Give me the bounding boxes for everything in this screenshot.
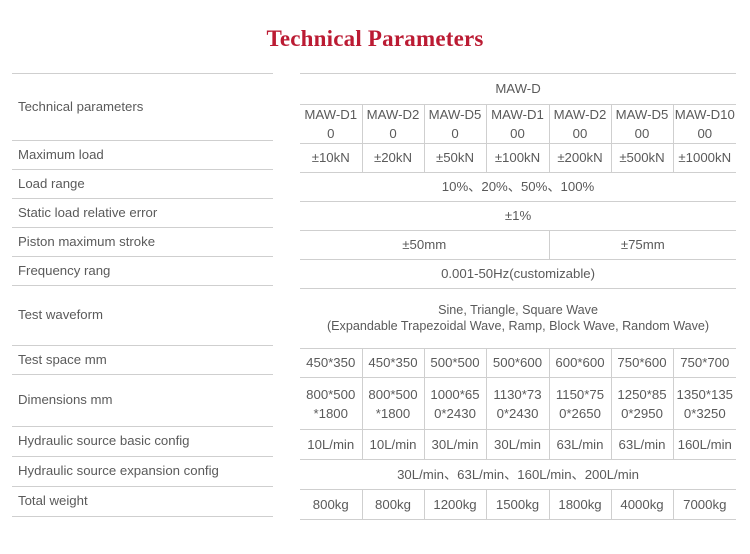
- dimensions-d20-line-2: *1800: [364, 404, 423, 423]
- model-header-row: MAW-D10 MAW-D20 MAW-D50 MAW-D100 MAW-D20…: [300, 105, 736, 144]
- data-row-load-range: 10%、20%、50%、100%: [300, 173, 736, 202]
- cell-hydraulic-basic-d100: 30L/min: [486, 430, 549, 460]
- cell-total-weight-d20: 800kg: [362, 490, 424, 520]
- dimensions-d1000-line-2: 0*3250: [675, 404, 736, 423]
- row-label-total-weight: Total weight: [12, 487, 273, 517]
- cell-maximum-load-d100: ±100kN: [486, 144, 549, 173]
- data-row-piston-maximum-stroke: ±50mm ±75mm: [300, 231, 736, 260]
- cell-test-space-d10: 450*350: [300, 349, 362, 378]
- label-row: Static load relative error: [12, 199, 273, 228]
- parameter-header-label: Technical parameters: [12, 74, 273, 141]
- dimensions-d200-line-1: 1150*75: [551, 385, 610, 404]
- label-row: Hydraulic source basic config: [12, 427, 273, 457]
- label-row: Hydraulic source expansion config: [12, 457, 273, 487]
- cell-dimensions-d100: 1130*73 0*2430: [486, 378, 549, 430]
- cell-dimensions-d20: 800*500 *1800: [362, 378, 424, 430]
- row-label-test-space-mm: Test space mm: [12, 346, 273, 375]
- cell-test-space-d100: 500*600: [486, 349, 549, 378]
- dimensions-d100-line-1: 1130*73: [488, 385, 548, 404]
- row-label-hydraulic-source-expansion-config: Hydraulic source expansion config: [12, 457, 273, 487]
- row-label-test-waveform: Test waveform: [12, 286, 273, 346]
- row-label-load-range: Load range: [12, 170, 273, 199]
- label-row: Frequency rang: [12, 257, 273, 286]
- cell-total-weight-d50: 1200kg: [424, 490, 486, 520]
- label-row: Test waveform: [12, 286, 273, 346]
- cell-test-space-d50: 500*500: [424, 349, 486, 378]
- cell-maximum-load-d20: ±20kN: [362, 144, 424, 173]
- parameter-label-body: Technical parameters Maximum load Load r…: [12, 74, 273, 517]
- data-row-dimensions: 800*500 *1800 800*500 *1800 1000*65 0*24…: [300, 378, 736, 430]
- data-row-hydraulic-expansion: 30L/min、63L/min、160L/min、200L/min: [300, 460, 736, 490]
- data-row-test-waveform: Sine, Triangle, Square Wave (Expandable …: [300, 289, 736, 349]
- dimensions-d100-line-2: 0*2430: [488, 404, 548, 423]
- cell-dimensions-d10: 800*500 *1800: [300, 378, 362, 430]
- label-row: Dimensions mm: [12, 375, 273, 427]
- dimensions-d20-line-1: 800*500: [364, 385, 423, 404]
- row-label-static-load-relative-error: Static load relative error: [12, 199, 273, 228]
- cell-total-weight-d10: 800kg: [300, 490, 362, 520]
- label-row: Load range: [12, 170, 273, 199]
- cell-hydraulic-expansion-all: 30L/min、63L/min、160L/min、200L/min: [300, 460, 736, 490]
- model-header-maw-d20: MAW-D20: [362, 105, 424, 144]
- dimensions-d1000-line-1: 1350*135: [675, 385, 736, 404]
- cell-hydraulic-basic-d500: 63L/min: [611, 430, 673, 460]
- cell-piston-stroke-50mm: ±50mm: [300, 231, 549, 260]
- row-label-piston-maximum-stroke: Piston maximum stroke: [12, 228, 273, 257]
- cell-dimensions-d1000: 1350*135 0*3250: [673, 378, 736, 430]
- cell-total-weight-d500: 4000kg: [611, 490, 673, 520]
- cell-test-space-d1000: 750*700: [673, 349, 736, 378]
- model-data-body: MAW-D MAW-D10 MAW-D20 MAW-D50 MAW-D100 M…: [300, 74, 736, 520]
- dimensions-d500-line-1: 1250*85: [613, 385, 672, 404]
- spec-sheet-page: Technical Parameters Technical parameter…: [0, 0, 750, 554]
- label-row: Total weight: [12, 487, 273, 517]
- cell-total-weight-d200: 1800kg: [549, 490, 611, 520]
- model-header-maw-d500: MAW-D500: [611, 105, 673, 144]
- label-row: Piston maximum stroke: [12, 228, 273, 257]
- model-header-maw-d50: MAW-D50: [424, 105, 486, 144]
- parameter-label-column: Technical parameters Maximum load Load r…: [12, 73, 273, 517]
- cell-test-space-d200: 600*600: [549, 349, 611, 378]
- cell-maximum-load-d1000: ±1000kN: [673, 144, 736, 173]
- dimensions-d50-line-2: 0*2430: [426, 404, 485, 423]
- cell-hydraulic-basic-d50: 30L/min: [424, 430, 486, 460]
- cell-test-waveform-all: Sine, Triangle, Square Wave (Expandable …: [300, 289, 736, 349]
- series-name-cell: MAW-D: [300, 74, 736, 105]
- dimensions-d10-line-2: *1800: [301, 404, 361, 423]
- data-row-maximum-load: ±10kN ±20kN ±50kN ±100kN ±200kN ±500kN ±…: [300, 144, 736, 173]
- model-header-maw-d100: MAW-D100: [486, 105, 549, 144]
- series-header-row: MAW-D: [300, 74, 736, 105]
- dimensions-d200-line-2: 0*2650: [551, 404, 610, 423]
- data-row-frequency-rang: 0.001-50Hz(customizable): [300, 260, 736, 289]
- row-label-frequency-rang: Frequency rang: [12, 257, 273, 286]
- cell-frequency-rang-all: 0.001-50Hz(customizable): [300, 260, 736, 289]
- cell-maximum-load-d10: ±10kN: [300, 144, 362, 173]
- specification-table: Technical parameters Maximum load Load r…: [12, 73, 736, 520]
- cell-static-load-relative-error-all: ±1%: [300, 202, 736, 231]
- cell-dimensions-d200: 1150*75 0*2650: [549, 378, 611, 430]
- cell-dimensions-d50: 1000*65 0*2430: [424, 378, 486, 430]
- cell-piston-stroke-75mm: ±75mm: [549, 231, 736, 260]
- cell-total-weight-d100: 1500kg: [486, 490, 549, 520]
- cell-total-weight-d1000: 7000kg: [673, 490, 736, 520]
- test-waveform-line-2: (Expandable Trapezoidal Wave, Ramp, Bloc…: [301, 319, 735, 335]
- cell-load-range-all: 10%、20%、50%、100%: [300, 173, 736, 202]
- data-row-static-load-relative-error: ±1%: [300, 202, 736, 231]
- test-waveform-line-1: Sine, Triangle, Square Wave: [301, 303, 735, 319]
- cell-hydraulic-basic-d200: 63L/min: [549, 430, 611, 460]
- label-row-header: Technical parameters: [12, 74, 273, 141]
- model-data-table: MAW-D MAW-D10 MAW-D20 MAW-D50 MAW-D100 M…: [300, 73, 736, 520]
- row-label-maximum-load: Maximum load: [12, 141, 273, 170]
- data-row-test-space: 450*350 450*350 500*500 500*600 600*600 …: [300, 349, 736, 378]
- cell-hydraulic-basic-d20: 10L/min: [362, 430, 424, 460]
- page-title: Technical Parameters: [0, 26, 750, 52]
- data-row-hydraulic-basic: 10L/min 10L/min 30L/min 30L/min 63L/min …: [300, 430, 736, 460]
- model-header-maw-d10: MAW-D10: [300, 105, 362, 144]
- cell-dimensions-d500: 1250*85 0*2950: [611, 378, 673, 430]
- row-label-dimensions-mm: Dimensions mm: [12, 375, 273, 427]
- dimensions-d500-line-2: 0*2950: [613, 404, 672, 423]
- cell-test-space-d20: 450*350: [362, 349, 424, 378]
- dimensions-d10-line-1: 800*500: [301, 385, 361, 404]
- cell-maximum-load-d50: ±50kN: [424, 144, 486, 173]
- label-row: Maximum load: [12, 141, 273, 170]
- cell-maximum-load-d200: ±200kN: [549, 144, 611, 173]
- cell-maximum-load-d500: ±500kN: [611, 144, 673, 173]
- model-header-maw-d1000: MAW-D1000: [673, 105, 736, 144]
- data-row-total-weight: 800kg 800kg 1200kg 1500kg 1800kg 4000kg …: [300, 490, 736, 520]
- row-label-hydraulic-source-basic-config: Hydraulic source basic config: [12, 427, 273, 457]
- label-row: Test space mm: [12, 346, 273, 375]
- model-header-maw-d200: MAW-D200: [549, 105, 611, 144]
- dimensions-d50-line-1: 1000*65: [426, 385, 485, 404]
- cell-hydraulic-basic-d10: 10L/min: [300, 430, 362, 460]
- cell-hydraulic-basic-d1000: 160L/min: [673, 430, 736, 460]
- cell-test-space-d500: 750*600: [611, 349, 673, 378]
